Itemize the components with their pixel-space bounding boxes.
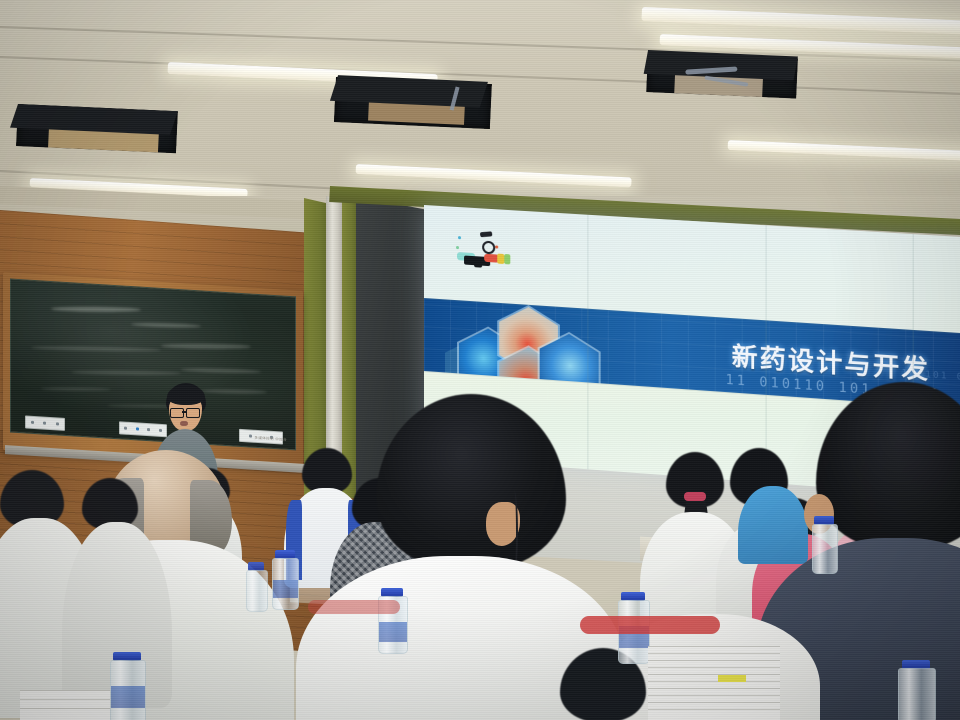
bottle-label — [273, 580, 298, 598]
water-bottle[interactable] — [812, 516, 836, 572]
fluorescent-tube-light — [641, 7, 960, 35]
ceiling-recess-vent — [334, 77, 492, 129]
bottle-body — [812, 524, 838, 574]
panel-indicator — [124, 427, 127, 430]
bottle-body — [110, 660, 146, 720]
presenter-mouth — [180, 421, 188, 426]
paper-sheet — [20, 708, 110, 720]
ceiling-recess-vent — [646, 52, 798, 99]
ceiling — [0, 0, 960, 215]
presenter-glasses — [186, 408, 200, 418]
panel-indicator — [147, 428, 150, 431]
chair-back — [308, 600, 400, 614]
panel-indicator — [31, 421, 34, 424]
water-bottle[interactable] — [272, 550, 297, 608]
audience-hair — [376, 394, 566, 570]
bottle-body — [246, 570, 268, 612]
bottle-label — [111, 686, 145, 708]
ceiling-recess-vent — [16, 104, 178, 153]
hair-tie — [684, 492, 706, 501]
presenter-org-logo — [454, 229, 518, 269]
panel-indicator — [43, 422, 46, 425]
bottle-body — [272, 558, 299, 610]
water-bottle[interactable] — [110, 652, 144, 720]
fluorescent-tube-light — [356, 164, 632, 187]
panel-indicator-active — [136, 427, 139, 430]
handout-paper-stack-left[interactable] — [20, 690, 110, 720]
bottle-label — [379, 622, 407, 642]
handout-paper-stack[interactable] — [648, 646, 780, 720]
water-bottle[interactable] — [898, 660, 934, 720]
bottle-body — [898, 668, 936, 720]
chalkboard-control-panel[interactable] — [25, 415, 65, 431]
presenter-glasses-bridge — [182, 411, 186, 413]
panel-indicator — [56, 422, 59, 425]
lecture-hall-photo: 多媒体控制 中控台 10 1 — [0, 0, 960, 720]
chair-back — [580, 616, 720, 634]
fluorescent-tube-light — [728, 140, 960, 161]
paper-sheet — [648, 709, 780, 720]
panel-indicator — [249, 434, 252, 437]
presenter-hair-top — [167, 385, 205, 405]
presenter-glasses — [170, 408, 184, 418]
water-bottle[interactable] — [378, 588, 406, 652]
sticky-note — [718, 675, 746, 682]
water-bottle[interactable] — [246, 562, 266, 610]
